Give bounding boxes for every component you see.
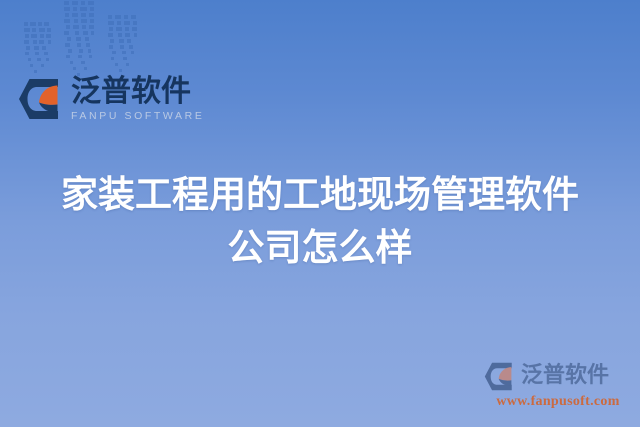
brand-logo-text: 泛普软件 FANPU SOFTWARE bbox=[71, 76, 204, 121]
headline: 家装工程用的工地现场管理软件 公司怎么样 bbox=[0, 168, 640, 274]
brand-name-en: FANPU SOFTWARE bbox=[71, 111, 204, 122]
brand-logo: 泛普软件 FANPU SOFTWARE bbox=[18, 76, 204, 121]
fanpu-logo-mark-watermark bbox=[484, 362, 516, 391]
fanpu-logo-mark bbox=[18, 78, 64, 120]
pixel-mosaic-pattern bbox=[22, 0, 152, 78]
brand-name-cn: 泛普软件 bbox=[71, 76, 204, 108]
headline-line-1: 家装工程用的工地现场管理软件 bbox=[0, 168, 640, 221]
watermark-url: www.fanpusoft.com bbox=[484, 394, 632, 410]
promo-banner: 泛普软件 FANPU SOFTWARE 家装工程用的工地现场管理软件 公司怎么样… bbox=[0, 0, 640, 427]
headline-line-2: 公司怎么样 bbox=[0, 221, 640, 274]
watermark-logo-row: 泛普软件 bbox=[484, 359, 632, 393]
watermark-brand-name: 泛普软件 bbox=[521, 365, 609, 387]
watermark: 泛普软件 www.fanpusoft.com bbox=[484, 359, 632, 419]
